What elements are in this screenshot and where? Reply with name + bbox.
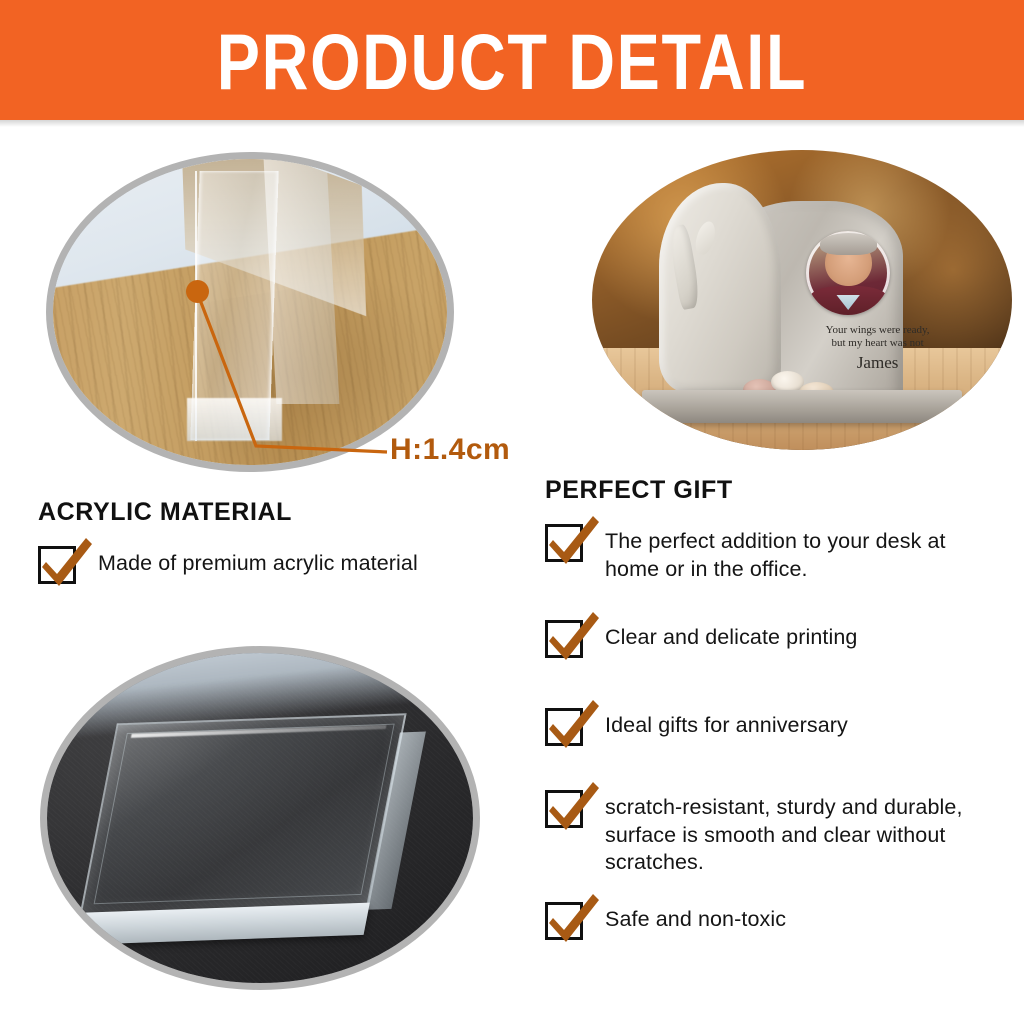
list-item: Made of premium acrylic material	[38, 546, 508, 584]
photo-acrylic-slab	[40, 646, 480, 990]
checkbox[interactable]	[38, 546, 76, 584]
list-item: The perfect addition to your desk at hom…	[545, 524, 1000, 583]
checkmark-icon	[547, 610, 601, 662]
angel-statue	[659, 183, 781, 393]
list-item-label: Made of premium acrylic material	[98, 550, 418, 578]
list-item-label: Safe and non-toxic	[605, 906, 786, 934]
checkmark-icon	[40, 536, 94, 588]
list-item-label: scratch-resistant, sturdy and durable, s…	[605, 794, 1005, 877]
list-item: Ideal gifts for anniversary	[545, 708, 1000, 746]
checkbox[interactable]	[545, 620, 583, 658]
list-item: Clear and delicate printing	[545, 620, 1000, 658]
checkbox[interactable]	[545, 708, 583, 746]
photo-memorial-plaque: Your wings were ready, but my heart was …	[592, 150, 1012, 450]
heading-perfect-gift: PERFECT GIFT	[545, 476, 733, 505]
engraved-text-block: Your wings were ready, but my heart was …	[768, 324, 986, 373]
checkmark-icon	[547, 514, 601, 566]
banner-shadow	[0, 120, 1024, 127]
acrylic-side-face	[263, 159, 339, 404]
list-item-label: Clear and delicate printing	[605, 624, 858, 652]
checkmark-icon	[547, 892, 601, 944]
checkbox[interactable]	[545, 902, 583, 940]
slab-bevel-line	[93, 723, 395, 904]
engraved-quote-line-1: Your wings were ready,	[768, 324, 986, 337]
heading-acrylic-material: ACRYLIC MATERIAL	[38, 498, 292, 527]
product-detail-page: PRODUCT DETAIL H:1.4cm	[0, 0, 1024, 1024]
acrylic-base-highlight	[187, 398, 282, 441]
list-item: Safe and non-toxic	[545, 902, 1000, 940]
angel-head	[693, 219, 719, 256]
list-item: scratch-resistant, sturdy and durable, s…	[545, 790, 1005, 877]
checkbox[interactable]	[545, 790, 583, 828]
checkbox[interactable]	[545, 524, 583, 562]
portrait-photo	[806, 231, 890, 315]
engraved-quote-line-2: but my heart was not	[768, 337, 986, 350]
wood-table-scene	[53, 159, 447, 465]
portrait-hair	[820, 233, 877, 255]
page-title: PRODUCT DETAIL	[217, 22, 807, 101]
photo-acrylic-edge	[46, 152, 454, 472]
dimension-label: H:1.4cm	[390, 433, 510, 467]
checkmark-icon	[547, 698, 601, 750]
list-item-label: Ideal gifts for anniversary	[605, 712, 848, 740]
checkmark-icon	[547, 780, 601, 832]
acrylic-slab	[79, 713, 406, 916]
plaque-base	[642, 390, 961, 423]
callout-dot-icon	[186, 280, 209, 303]
header-banner: PRODUCT DETAIL	[0, 0, 1024, 120]
list-item-label: The perfect addition to your desk at hom…	[605, 528, 1000, 583]
